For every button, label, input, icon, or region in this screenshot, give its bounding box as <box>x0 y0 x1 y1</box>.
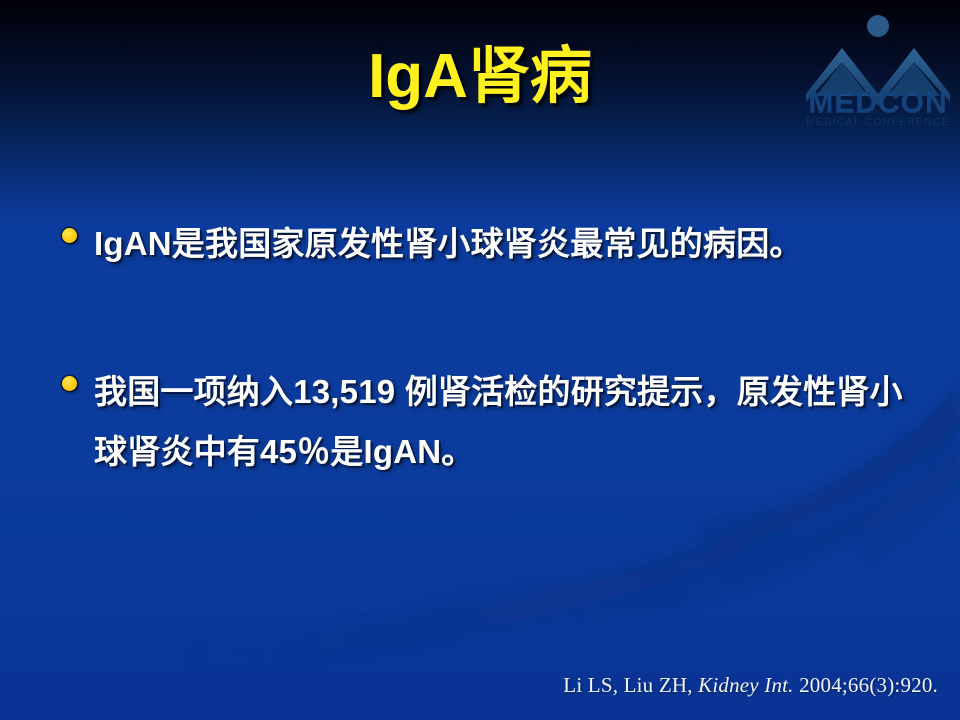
slide-title: IgA肾病 <box>0 44 960 111</box>
list-item: IgAN是我国家原发性肾小球肾炎最常见的病因。 <box>52 214 922 274</box>
citation-journal: Kidney Int. <box>698 673 794 697</box>
logo-subwordmark: MEDICAL CONFERENCE <box>802 118 954 128</box>
citation-authors: Li LS, Liu ZH, <box>563 673 692 697</box>
bullet-text-2: 我国一项纳入13,519 例肾活检的研究提示，原发性肾小球肾炎中有45％是IgA… <box>94 362 922 482</box>
logo-sun-circle <box>867 15 889 37</box>
citation: Li LS, Liu ZH, Kidney Int. 2004;66(3):92… <box>563 673 938 698</box>
slide-canvas: MEDCON MEDICAL CONFERENCE IgA肾病 IgAN是我国家… <box>0 0 960 720</box>
bullet-text-1: IgAN是我国家原发性肾小球肾炎最常见的病因。 <box>94 214 922 274</box>
list-item: 我国一项纳入13,519 例肾活检的研究提示，原发性肾小球肾炎中有45％是IgA… <box>52 362 922 482</box>
citation-reference: 2004;66(3):920. <box>799 673 938 697</box>
bullet-list: IgAN是我国家原发性肾小球肾炎最常见的病因。 我国一项纳入13,519 例肾活… <box>52 214 922 482</box>
bullet-dot-icon <box>62 376 77 391</box>
bullet-dot-icon <box>62 228 77 243</box>
